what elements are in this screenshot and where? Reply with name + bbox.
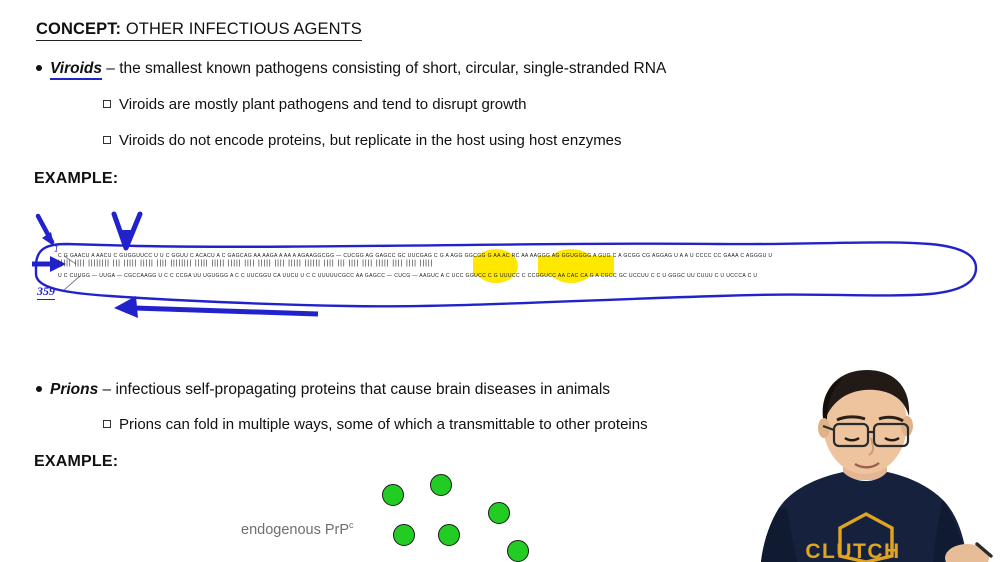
concept-keyword: CONCEPT: bbox=[36, 20, 121, 38]
rna-bottom-sequence: U C CUUGG — UUGA — CGCCAAGG U C C CCGA U… bbox=[58, 274, 757, 280]
prp-caption-superscript: c bbox=[349, 520, 354, 530]
prion-protein-circle bbox=[438, 524, 460, 546]
rna-top-sequence: C G GAACU A AACU C GUGGUUCC U U C GGUU C… bbox=[58, 254, 772, 260]
instructor-figure: CLUTCH bbox=[735, 368, 1000, 562]
prp-caption-text: endogenous PrP bbox=[241, 522, 349, 538]
prions-example-label: EXAMPLE: bbox=[34, 453, 118, 471]
viroids-bullet: Viroids – the smallest known pathogens c… bbox=[36, 60, 666, 78]
viroids-subpoint-1-text: Viroids are mostly plant pathogens and t… bbox=[119, 96, 526, 113]
prion-protein-circle bbox=[430, 474, 452, 496]
page-title: CONCEPT: OTHER INFECTIOUS AGENTS bbox=[36, 20, 362, 39]
prion-protein-circle bbox=[507, 540, 529, 562]
slide-page: CONCEPT: OTHER INFECTIOUS AGENTS Viroids… bbox=[0, 0, 1000, 562]
bullet-dot-icon bbox=[36, 65, 42, 71]
rna-start-label: 1 bbox=[54, 244, 59, 254]
prions-term: Prions bbox=[50, 381, 98, 398]
bullet-dot-icon bbox=[36, 386, 42, 392]
viroids-example-label: EXAMPLE: bbox=[34, 170, 118, 188]
viroids-subpoint-2: Viroids do not encode proteins, but repl… bbox=[103, 132, 622, 149]
prions-bullet: Prions – infectious self-propagating pro… bbox=[36, 381, 610, 399]
rna-end-label: 359 bbox=[37, 284, 55, 300]
prion-protein-circle bbox=[382, 484, 404, 506]
viroids-subpoint-1: Viroids are mostly plant pathogens and t… bbox=[103, 96, 526, 113]
rna-base-pair-rungs: ||||| |||| |||||||| ||| ||||| ||||| ||||… bbox=[58, 260, 433, 267]
square-bullet-icon bbox=[103, 136, 111, 144]
blue-small-arrow-start bbox=[38, 216, 54, 246]
viroids-term: Viroids bbox=[50, 60, 102, 80]
prions-subpoint-1: Prions can fold in multiple ways, some o… bbox=[103, 416, 648, 433]
prion-protein-circle bbox=[393, 524, 415, 546]
prion-protein-diagram: endogenous PrPc bbox=[225, 462, 555, 562]
prions-definition: – infectious self-propagating proteins t… bbox=[98, 381, 610, 398]
prp-caption: endogenous PrPc bbox=[241, 520, 354, 538]
clutch-shirt-text: CLUTCH bbox=[805, 540, 900, 562]
viroids-definition: – the smallest known pathogens consistin… bbox=[102, 60, 666, 77]
prion-protein-circle bbox=[488, 502, 510, 524]
square-bullet-icon bbox=[103, 420, 111, 428]
viroid-rna-diagram: C G GAACU A AACU C GUGGUUCC U U C GGUU C… bbox=[18, 196, 986, 326]
prions-subpoint-1-text: Prions can fold in multiple ways, some o… bbox=[119, 416, 648, 433]
concept-title-text: OTHER INFECTIOUS AGENTS bbox=[121, 20, 362, 38]
square-bullet-icon bbox=[103, 100, 111, 108]
instructor-webcam-overlay: CLUTCH bbox=[735, 368, 1000, 562]
viroids-subpoint-2-text: Viroids do not encode proteins, but repl… bbox=[119, 132, 622, 149]
blue-down-arrow-annotation bbox=[114, 214, 140, 248]
